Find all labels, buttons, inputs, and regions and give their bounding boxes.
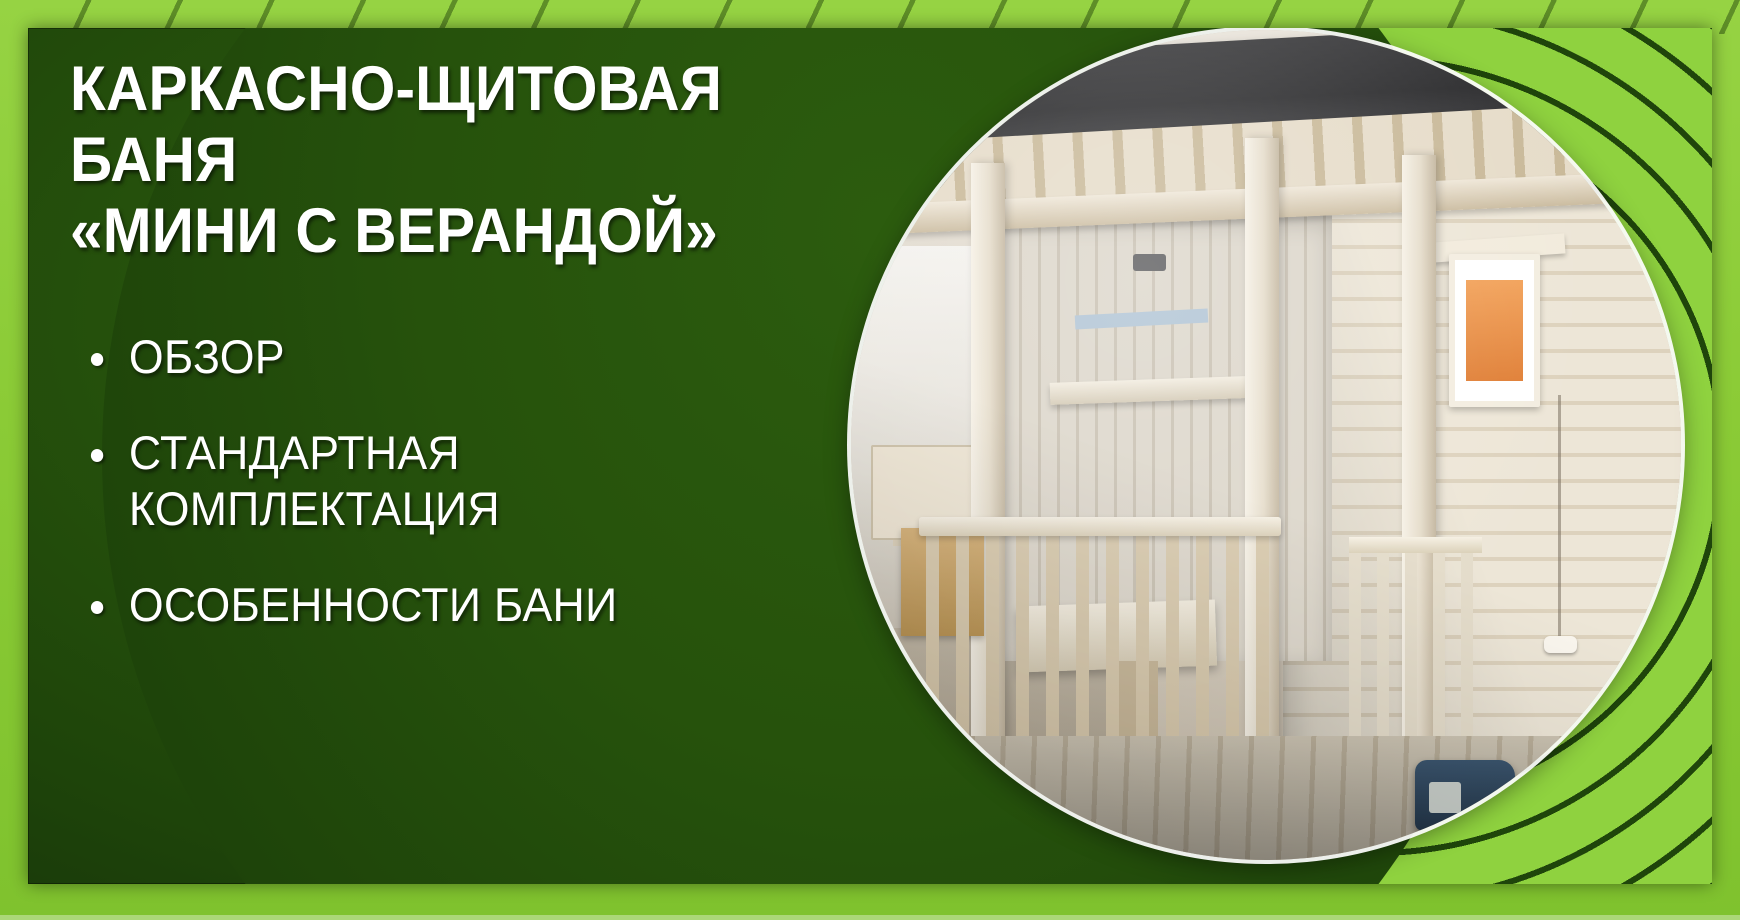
list-item: ОБЗОР — [70, 329, 792, 385]
bullet-text-2: СТАНДАРТНАЯ КОМПЛЕКТАЦИЯ — [129, 425, 792, 537]
text-content: КАРКАСНО-ЩИТОВАЯ БАНЯ «МИНИ С ВЕРАНДОЙ» … — [28, 28, 1712, 884]
title-line-3: «МИНИ С ВЕРАНДОЙ» — [70, 196, 805, 267]
title-line-1: КАРКАСНО-ЩИТОВАЯ — [70, 54, 805, 125]
bullet-text-3: ОСОБЕННОСТИ БАНИ — [129, 577, 792, 633]
frame-bottom-highlight-decor — [0, 915, 1740, 920]
topic-list: ОБЗОР СТАНДАРТНАЯ КОМПЛЕКТАЦИЯ ОСОБЕННОС… — [70, 329, 830, 633]
list-item: ОСОБЕННОСТИ БАНИ — [70, 577, 792, 633]
bullet-dot-icon — [91, 449, 103, 462]
thumbnail-banner: КАРКАСНО-ЩИТОВАЯ БАНЯ «МИНИ С ВЕРАНДОЙ» … — [0, 0, 1740, 920]
bullet-text-1: ОБЗОР — [129, 329, 792, 385]
content-panel: КАРКАСНО-ЩИТОВАЯ БАНЯ «МИНИ С ВЕРАНДОЙ» … — [28, 28, 1712, 884]
bullet-text-2-line-1: СТАНДАРТНАЯ — [129, 426, 460, 479]
bullet-dot-icon — [91, 601, 103, 614]
bullet-dot-icon — [91, 353, 103, 366]
bullet-text-2-line-2: КОМПЛЕКТАЦИЯ — [129, 481, 792, 537]
title-line-2: БАНЯ — [70, 125, 805, 196]
banner-title: КАРКАСНО-ЩИТОВАЯ БАНЯ «МИНИ С ВЕРАНДОЙ» — [70, 54, 805, 267]
list-item: СТАНДАРТНАЯ КОМПЛЕКТАЦИЯ — [70, 425, 792, 537]
